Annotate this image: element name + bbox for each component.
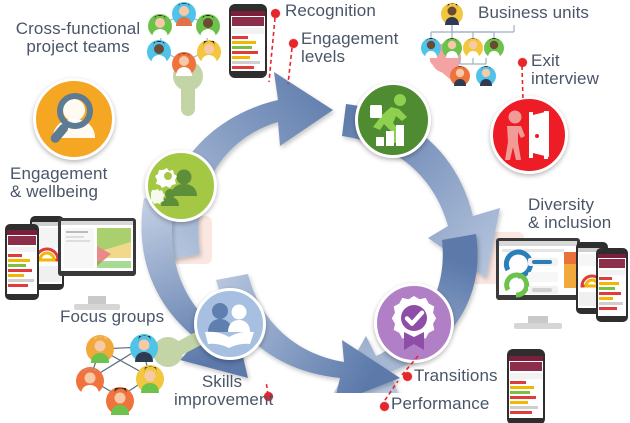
callout-dot-engagement-levels <box>289 39 298 48</box>
callout-dot-exit-interview <box>518 58 527 67</box>
label-engagement-wellbeing: Engagement & wellbeing <box>10 165 107 201</box>
label-exit-interview: Exit interview <box>531 52 599 88</box>
label-engagement-levels: Engagement levels <box>301 30 398 66</box>
label-focus-groups: Focus groups <box>60 308 164 326</box>
callout-dot-performance <box>380 402 389 411</box>
label-skills-improvement: Skills improvement <box>174 373 270 409</box>
callout-dot-transitions <box>403 372 412 381</box>
label-transitions: Transitions <box>414 367 498 385</box>
label-performance: Performance <box>391 395 489 413</box>
label-business-units: Business units <box>478 4 589 22</box>
label-diversity-inclusion: Diversity & inclusion <box>528 196 611 232</box>
callout-dot-recognition <box>271 9 280 18</box>
label-cross-functional-project-teams: Cross-functional project teams <box>8 20 148 56</box>
label-recognition: Recognition <box>285 2 376 20</box>
lifecycle-diagram: Cross-functional project teams Recogniti… <box>0 0 630 423</box>
